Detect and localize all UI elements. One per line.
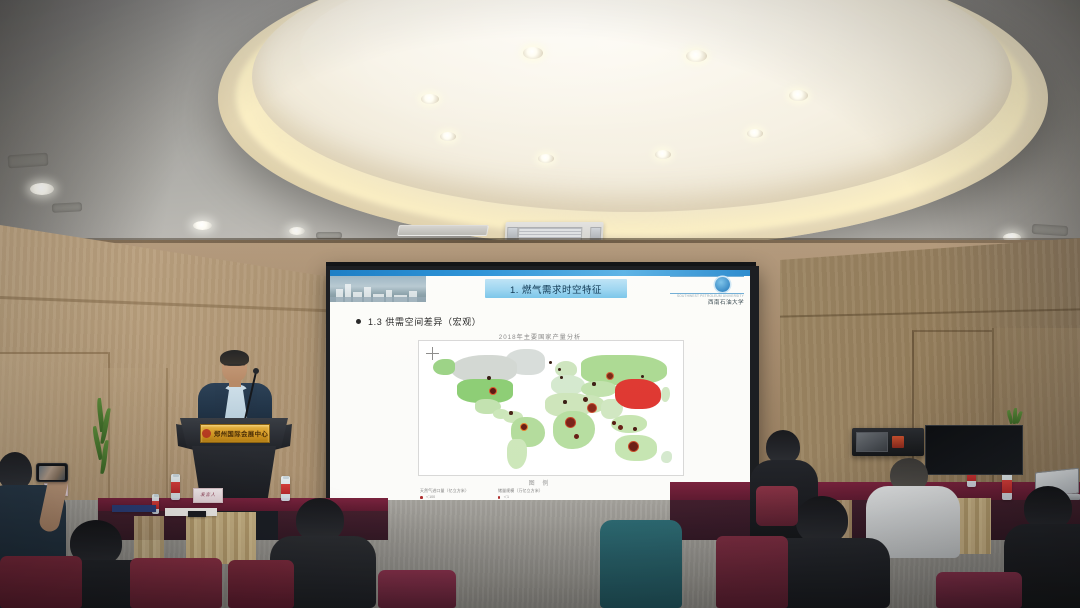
dome-downlight	[523, 47, 543, 59]
map-marker	[633, 427, 637, 431]
smartphone-screen	[39, 466, 65, 480]
podium-plaque-text: 郑州国际会展中心	[214, 429, 268, 438]
legend-swatch-icon	[498, 496, 500, 498]
map-marker	[563, 400, 567, 404]
logo-ring-icon	[715, 277, 730, 292]
map-region-seasia	[611, 415, 647, 433]
university-name-cn: 西南石油大学	[670, 298, 744, 306]
map-region-nz	[661, 451, 672, 463]
bottle-label	[171, 482, 180, 493]
dome-downlight	[421, 94, 439, 104]
chair[interactable]	[600, 520, 682, 608]
chair[interactable]	[378, 570, 456, 608]
world-map-chart	[418, 340, 684, 476]
wall-ceiling-edge	[0, 238, 1080, 243]
chair[interactable]	[936, 572, 1022, 608]
map-marker	[509, 411, 513, 415]
water-bottle	[171, 474, 180, 500]
chair[interactable]	[716, 536, 788, 608]
ceiling-downlight	[289, 227, 305, 235]
university-logo: SOUTHWEST PETROLEUM UNIVERSITY 西南石油大学	[668, 276, 746, 306]
bullet-dot-icon	[356, 319, 361, 324]
smartphone[interactable]	[36, 463, 68, 482]
chair[interactable]	[228, 560, 294, 608]
map-marker	[520, 423, 528, 431]
bottle-cap	[283, 476, 289, 479]
potted-plant	[92, 398, 114, 484]
slide-header-photo	[330, 276, 426, 302]
chair[interactable]	[756, 486, 798, 526]
map-marker	[565, 417, 576, 428]
ceiling-vent	[8, 153, 49, 169]
slide-header-title: 1. 燃气需求时空特征	[485, 279, 627, 298]
compass-icon	[426, 347, 439, 360]
map-marker	[487, 376, 491, 380]
paper-sheet	[112, 505, 156, 512]
ceiling-downlight	[193, 221, 212, 230]
map-region-japan	[661, 387, 670, 402]
projection-screen: 1. 燃气需求时空特征 SOUTHWEST PETROLEUM UNIVERSI…	[330, 270, 750, 506]
ceiling-downlight	[30, 183, 54, 195]
map-region-subsaharan	[553, 411, 595, 449]
slide-bullet: 1.3 供需空间差异（宏观）	[356, 315, 481, 328]
map-region-southcone	[507, 439, 527, 469]
name-card: 发言人	[193, 488, 223, 503]
audience-head	[796, 496, 848, 544]
legend-swatch-icon	[420, 496, 423, 499]
dome-downlight	[686, 50, 707, 62]
av-equipment-indicator	[892, 436, 904, 448]
map-marker	[592, 382, 596, 386]
dome-downlight	[655, 150, 671, 159]
podium-plaque: 郑州国际会展中心	[200, 424, 270, 443]
ceiling-vent	[52, 202, 82, 213]
head-table-pleated-skirt	[186, 512, 256, 564]
podium-seal-icon	[202, 429, 211, 438]
dome-downlight	[789, 90, 808, 101]
map-marker	[587, 403, 597, 413]
potted-plant	[1006, 408, 1024, 432]
bottle-label	[281, 484, 290, 494]
microphone-head-icon	[253, 368, 259, 374]
slide-bullet-label: 1.3 供需空间差异（宏观）	[368, 315, 481, 328]
audience-head	[766, 430, 800, 464]
paper-sheet	[188, 511, 206, 517]
chair[interactable]	[130, 558, 222, 608]
map-marker	[583, 397, 588, 402]
linear-slot-diffuser-icon	[397, 225, 489, 236]
legend-left-title: 天然气进口量（亿立方米）	[420, 488, 469, 493]
speaker-glasses-icon	[224, 364, 245, 370]
dome-downlight	[440, 132, 456, 141]
ceiling-shadow-left	[0, 0, 240, 250]
map-marker	[606, 372, 614, 380]
logo-line-top	[670, 276, 744, 277]
bottle-cap	[154, 494, 159, 497]
map-region-china	[615, 379, 661, 409]
map-region-alaska	[433, 359, 455, 375]
dome-downlight	[538, 154, 554, 163]
dome-downlight	[747, 129, 763, 138]
conference-hall-photo: 1. 燃气需求时空特征 SOUTHWEST PETROLEUM UNIVERSI…	[0, 0, 1080, 608]
chair[interactable]	[0, 556, 82, 608]
name-card-text: 发言人	[200, 492, 216, 498]
audience-member	[870, 458, 956, 554]
legend-right-title: 储量规模（万亿立方米）	[498, 488, 543, 493]
av-equipment-panel	[856, 432, 888, 452]
map-marker	[560, 376, 563, 379]
map-marker	[549, 361, 552, 364]
map-region-europe	[551, 375, 585, 395]
bottle-cap	[173, 474, 179, 477]
